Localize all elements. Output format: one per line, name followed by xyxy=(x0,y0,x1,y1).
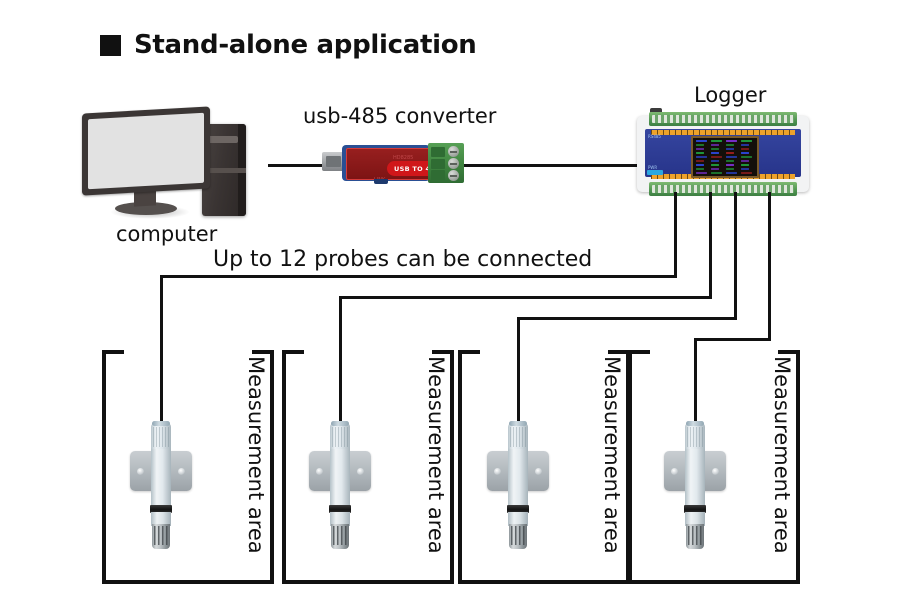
probe-filter-tip xyxy=(686,524,704,549)
probe-screw-hole xyxy=(137,468,144,475)
area-bracket-cap-right xyxy=(432,350,454,354)
monitor-icon xyxy=(82,106,210,195)
title-text: Stand-alone application xyxy=(134,30,477,60)
wire-dongle-to-logger xyxy=(464,164,649,167)
display-column xyxy=(741,140,752,174)
probe-screw-hole xyxy=(494,468,501,475)
tower-drive-bay xyxy=(208,136,238,143)
measurement-area-label: Measurement area xyxy=(600,356,624,554)
probe-body xyxy=(151,445,171,507)
label-usb-converter: usb-485 converter xyxy=(303,104,496,128)
terminal-slot xyxy=(431,147,445,157)
probe-sensor-1 xyxy=(130,423,192,549)
probe-screw-hole xyxy=(178,468,185,475)
logger-tag-left: RS485 xyxy=(648,134,661,139)
probe-cap xyxy=(685,423,705,449)
terminal-slot xyxy=(431,159,445,169)
logger-indicator xyxy=(647,170,663,175)
measurement-area-label: Measurement area xyxy=(244,356,268,554)
probe-screw-hole xyxy=(671,468,678,475)
logger-device: RS485 PWR xyxy=(637,112,809,196)
page-title: Stand-alone application xyxy=(100,30,477,60)
measurement-area-label: Measurement area xyxy=(424,356,448,554)
probe-filter-tip xyxy=(331,524,349,549)
terminal-screw xyxy=(448,170,459,181)
probe-cap-top xyxy=(509,421,527,426)
label-capacity-note: Up to 12 probes can be connected xyxy=(213,247,592,272)
terminal-screw xyxy=(448,146,459,157)
dongle-board: HD8285 LINK USB TO 485 xyxy=(346,148,430,180)
bullet-square-icon xyxy=(100,35,121,56)
terminal-slot xyxy=(431,170,445,180)
wire-branch-3-across xyxy=(517,317,737,320)
measurement-area-label: Measurement area xyxy=(770,356,794,554)
probe-filter-tip xyxy=(152,524,170,549)
probe-screw-hole xyxy=(535,468,542,475)
probe-screw-hole xyxy=(712,468,719,475)
display-column xyxy=(696,140,707,174)
probe-cap-top xyxy=(686,421,704,426)
area-bracket-cap-right xyxy=(608,350,630,354)
probe-sensor-2 xyxy=(309,423,371,549)
wire-branch-3-down xyxy=(734,192,737,320)
label-computer: computer xyxy=(116,222,217,246)
area-bracket-cap-left xyxy=(102,350,124,354)
probe-filter-tip xyxy=(509,524,527,549)
diagram-canvas: Stand-alone application usb-485 converte… xyxy=(0,0,900,612)
area-bracket-cap-right xyxy=(252,350,274,354)
computer-illustration xyxy=(82,110,257,218)
wire-branch-1-across xyxy=(160,275,677,278)
wire-branch-4-down xyxy=(768,192,771,341)
monitor-screen xyxy=(88,113,204,189)
area-bracket-cap-left xyxy=(282,350,304,354)
probe-cap-top xyxy=(152,421,170,426)
logger-label-strip-top xyxy=(651,130,795,135)
probe-cap xyxy=(508,423,528,449)
area-bracket-cap-right xyxy=(778,350,800,354)
probe-cap xyxy=(330,423,350,449)
terminal-screw xyxy=(448,158,459,169)
dongle-tab xyxy=(374,179,388,184)
probe-screw-hole xyxy=(316,468,323,475)
wire-branch-1-down xyxy=(674,192,677,278)
display-column xyxy=(711,140,722,174)
wire-branch-4-across xyxy=(694,338,771,341)
wire-branch-2-down xyxy=(709,192,712,299)
probe-cap xyxy=(151,423,171,449)
usb-485-converter-device: HD8285 LINK USB TO 485 xyxy=(322,143,464,183)
logger-display xyxy=(691,136,759,178)
label-logger: Logger xyxy=(694,83,766,107)
probe-sensor-3 xyxy=(487,423,549,549)
area-bracket-cap-left xyxy=(628,350,650,354)
wire-branch-2-across xyxy=(339,296,712,299)
probe-body xyxy=(685,445,705,507)
dongle-terminal-block xyxy=(428,143,464,183)
probe-body xyxy=(330,445,350,507)
area-bracket-cap-left xyxy=(458,350,480,354)
probe-body xyxy=(508,445,528,507)
probe-sensor-4 xyxy=(664,423,726,549)
probe-cap-top xyxy=(331,421,349,426)
wire-computer-to-dongle xyxy=(268,164,324,167)
dongle-silk-top: HD8285 xyxy=(393,155,413,161)
probe-screw-hole xyxy=(357,468,364,475)
display-column xyxy=(726,140,737,174)
logger-terminal-top xyxy=(649,112,797,126)
logger-terminal-bottom xyxy=(649,182,797,196)
